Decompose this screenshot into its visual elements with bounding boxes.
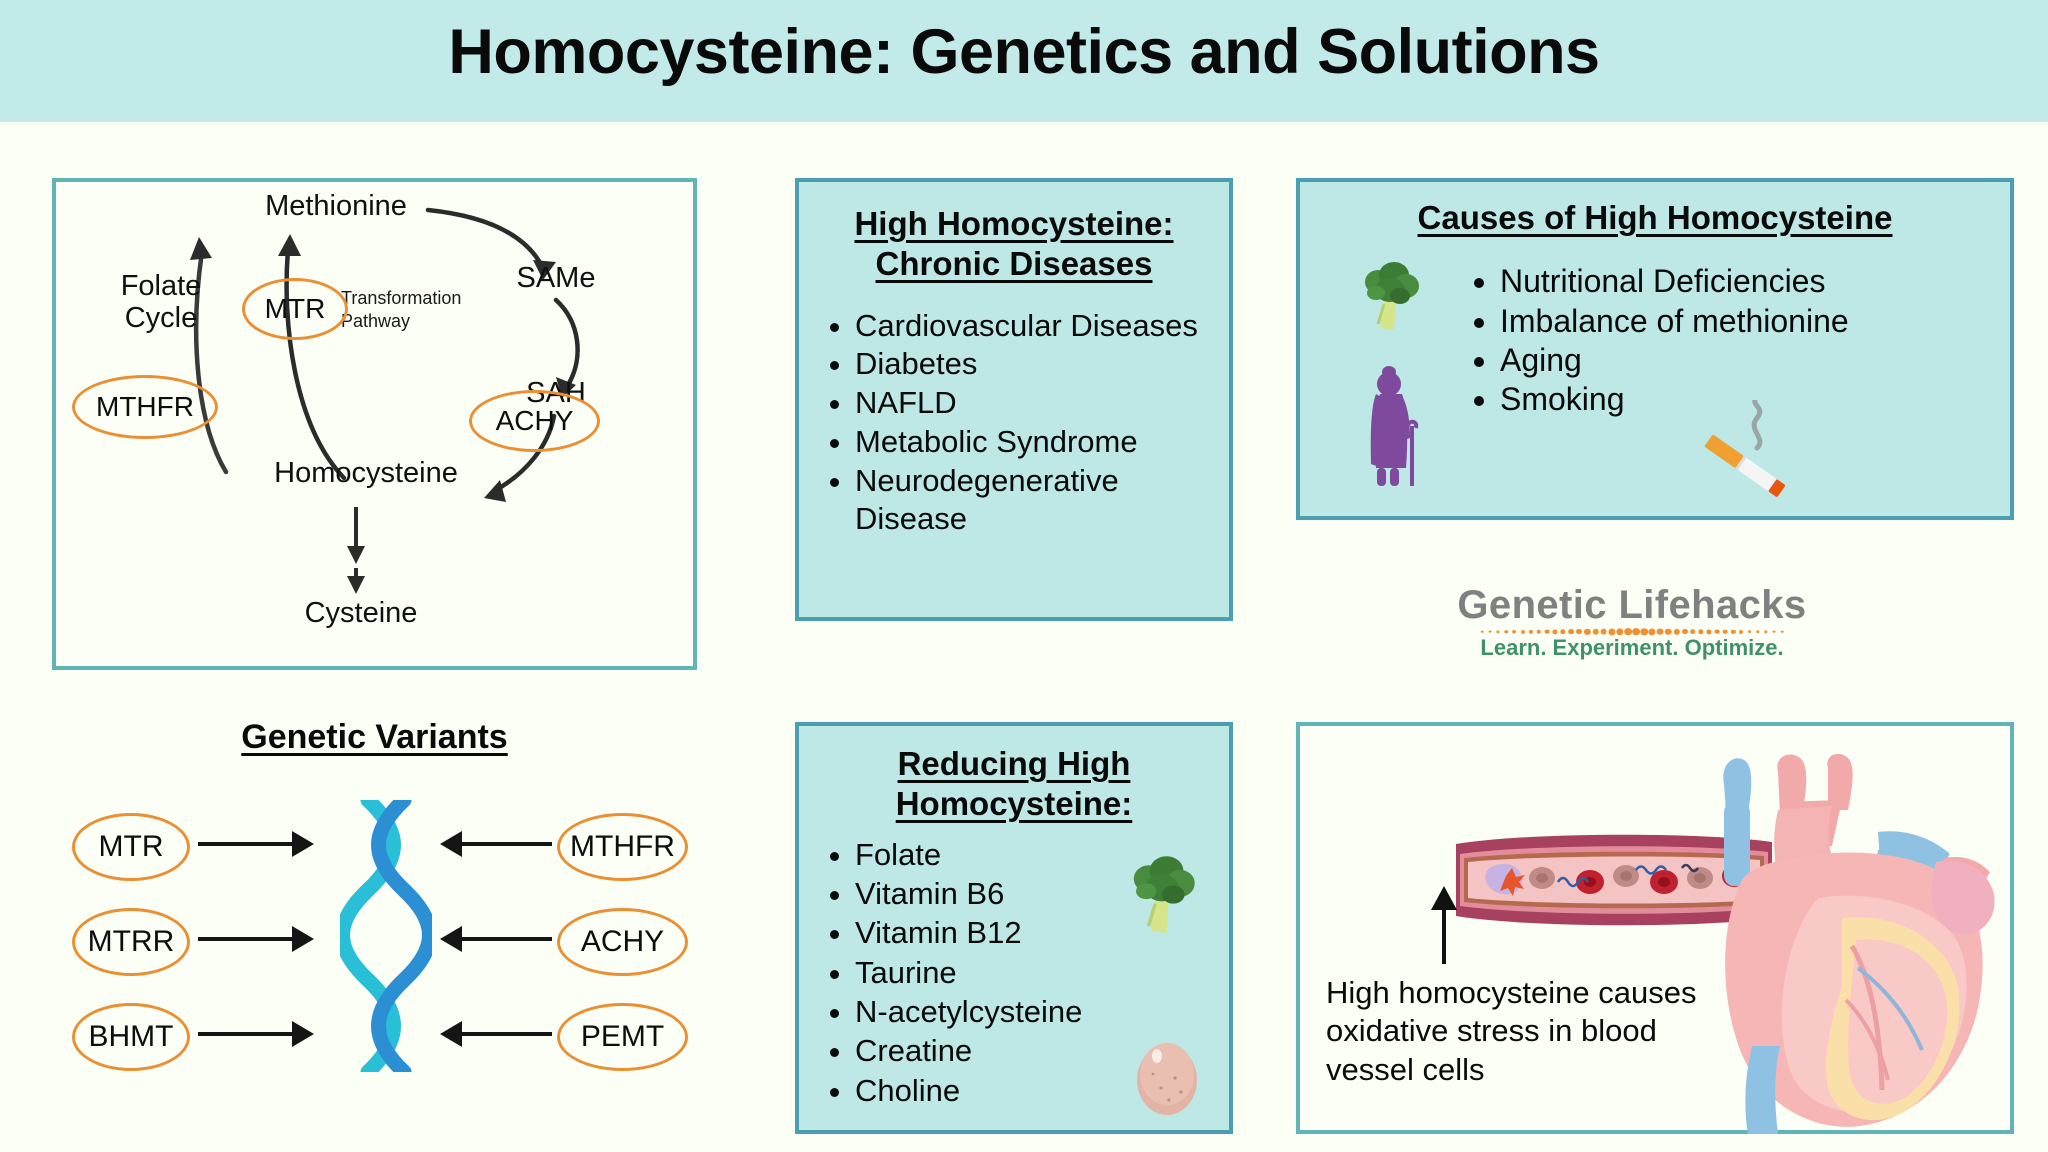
- list-item: Taurine: [855, 953, 1219, 992]
- dna-helix-icon: [340, 800, 432, 1072]
- up-arrow-icon: [1442, 908, 1446, 964]
- brand-logo: Genetic Lifehacks Learn. Experiment. Opt…: [1437, 585, 1827, 660]
- cigarette-icon: [1695, 400, 1805, 506]
- list-item: Neurodegenerative Disease: [855, 462, 1219, 540]
- logo-dot: [1731, 629, 1735, 633]
- list-item: Imbalance of methionine: [1500, 302, 2000, 341]
- causes-title: Causes of High Homocysteine: [1314, 198, 1996, 238]
- elderly-person-icon: [1356, 364, 1426, 496]
- logo-dot: [1608, 628, 1615, 635]
- broccoli-icon: [1121, 854, 1203, 942]
- logo-dot: [1673, 628, 1679, 634]
- logo-dot: [1568, 629, 1574, 635]
- broccoli-icon: [1354, 260, 1426, 338]
- reducing-homocysteine-panel: Reducing High Homocysteine: Folat: [795, 722, 1233, 1134]
- gene-oval-achy-right: ACHY: [557, 908, 688, 976]
- logo-dot-rule: [1482, 628, 1782, 635]
- logo-dot: [1600, 628, 1607, 635]
- logo-dot: [1706, 629, 1711, 634]
- list-item: N-acetylcysteine: [855, 992, 1219, 1031]
- arrow-same-to-sah: [556, 300, 578, 385]
- logo-dot: [1560, 629, 1565, 634]
- gene-oval-mthfr-right: MTHFR: [557, 813, 688, 881]
- logo-dot: [1544, 629, 1549, 634]
- logo-dot: [1665, 628, 1672, 635]
- logo-dot: [1632, 628, 1640, 636]
- list-item: Diabetes: [855, 345, 1219, 384]
- infographic-page: Homocysteine: Genetics and Solutions M: [0, 0, 2048, 1152]
- arrow-left-icon: [460, 1032, 552, 1036]
- logo-dot: [1764, 630, 1767, 633]
- page-title: Homocysteine: Genetics and Solutions: [0, 16, 2048, 88]
- logo-dot: [1624, 628, 1632, 636]
- list-item: Metabolic Syndrome: [855, 423, 1219, 462]
- egg-icon: [1131, 1030, 1203, 1116]
- logo-dot: [1489, 630, 1492, 633]
- transformation-line-2: Pathway: [341, 310, 521, 333]
- gene-oval-mthfr: MTHFR: [72, 375, 218, 439]
- logo-dot: [1592, 628, 1599, 635]
- reducing-title-line-2: Homocysteine:: [813, 784, 1215, 824]
- logo-dot: [1505, 630, 1508, 633]
- logo-dot: [1690, 629, 1696, 635]
- vessel-caption: High homocysteine causes oxidative stres…: [1326, 974, 1746, 1089]
- gene-oval-mtr-left: MTR: [72, 813, 190, 881]
- label-homocysteine: Homocysteine: [251, 457, 481, 490]
- logo-wordmark: Genetic Lifehacks: [1437, 585, 1827, 625]
- logo-dot: [1497, 630, 1500, 633]
- logo-dot: [1481, 630, 1484, 633]
- chronic-diseases-title: High Homocysteine: Chronic Diseases: [813, 204, 1215, 285]
- arrow-methionine-to-same: [428, 210, 543, 268]
- logo-dot: [1723, 629, 1728, 634]
- label-methionine: Methionine: [236, 190, 436, 223]
- logo-dot: [1657, 628, 1664, 635]
- folate-cycle-line-1: Folate: [96, 270, 226, 302]
- list-item: NAFLD: [855, 384, 1219, 423]
- arrow-right-icon: [198, 937, 294, 941]
- blood-vessel-panel: High homocysteine causes oxidative stres…: [1296, 722, 2014, 1134]
- chronic-title-line-2: Chronic Diseases: [813, 244, 1215, 284]
- arrow-right-icon: [198, 842, 294, 846]
- logo-dot: [1649, 628, 1656, 635]
- chronic-diseases-list: Cardiovascular Diseases Diabetes NAFLD M…: [799, 307, 1229, 540]
- logo-dot: [1576, 629, 1582, 635]
- genetic-variants-title: Genetic Variants: [52, 718, 697, 757]
- gene-oval-mtr: MTR: [242, 278, 348, 340]
- logo-dot: [1698, 629, 1703, 634]
- logo-dot: [1513, 630, 1517, 634]
- transformation-line-1: Transformation: [341, 287, 521, 310]
- causes-panel: Causes of High Homocysteine: [1296, 178, 2014, 520]
- logo-dot: [1521, 630, 1525, 634]
- chronic-title-line-1: High Homocysteine:: [813, 204, 1215, 244]
- logo-dot: [1772, 630, 1775, 633]
- gene-oval-pemt: PEMT: [557, 1003, 688, 1071]
- arrow-left-icon: [460, 937, 552, 941]
- list-item: Aging: [1500, 341, 2000, 380]
- logo-dot: [1682, 629, 1688, 635]
- logo-dot: [1781, 630, 1784, 633]
- genetic-variants-section: Genetic Variants MTR MTRR BHMT MTHFR ACH…: [52, 718, 697, 1138]
- logo-tagline: Learn. Experiment. Optimize.: [1437, 636, 1827, 660]
- logo-dot: [1640, 628, 1647, 635]
- reducing-title-line-1: Reducing High: [813, 744, 1215, 784]
- list-item: Nutritional Deficiencies: [1500, 262, 2000, 301]
- label-cysteine: Cysteine: [281, 597, 441, 630]
- arrow-left-icon: [460, 842, 552, 846]
- folate-cycle-line-2: Cycle: [96, 302, 226, 334]
- logo-dot: [1529, 629, 1533, 633]
- gene-oval-achy: ACHY: [469, 390, 600, 452]
- logo-dot: [1584, 628, 1590, 634]
- logo-dot: [1739, 630, 1743, 634]
- gene-oval-mtrr: MTRR: [72, 908, 190, 976]
- reducing-title: Reducing High Homocysteine:: [813, 744, 1215, 825]
- list-item: Cardiovascular Diseases: [855, 307, 1219, 346]
- methylation-cycle-panel: Methionine SAMe SAH Homocysteine Cystein…: [52, 178, 697, 670]
- arrow-right-icon: [198, 1032, 294, 1036]
- logo-dot: [1536, 629, 1541, 634]
- logo-dot: [1715, 629, 1720, 634]
- label-transformation-pathway: Transformation Pathway: [341, 287, 521, 332]
- logo-dot: [1756, 630, 1759, 633]
- label-folate-cycle: Folate Cycle: [96, 270, 226, 335]
- logo-dot: [1748, 630, 1752, 634]
- logo-dot: [1616, 628, 1623, 635]
- logo-dot: [1552, 629, 1557, 634]
- gene-oval-bhmt: BHMT: [72, 1003, 190, 1071]
- chronic-diseases-panel: High Homocysteine: Chronic Diseases Card…: [795, 178, 1233, 621]
